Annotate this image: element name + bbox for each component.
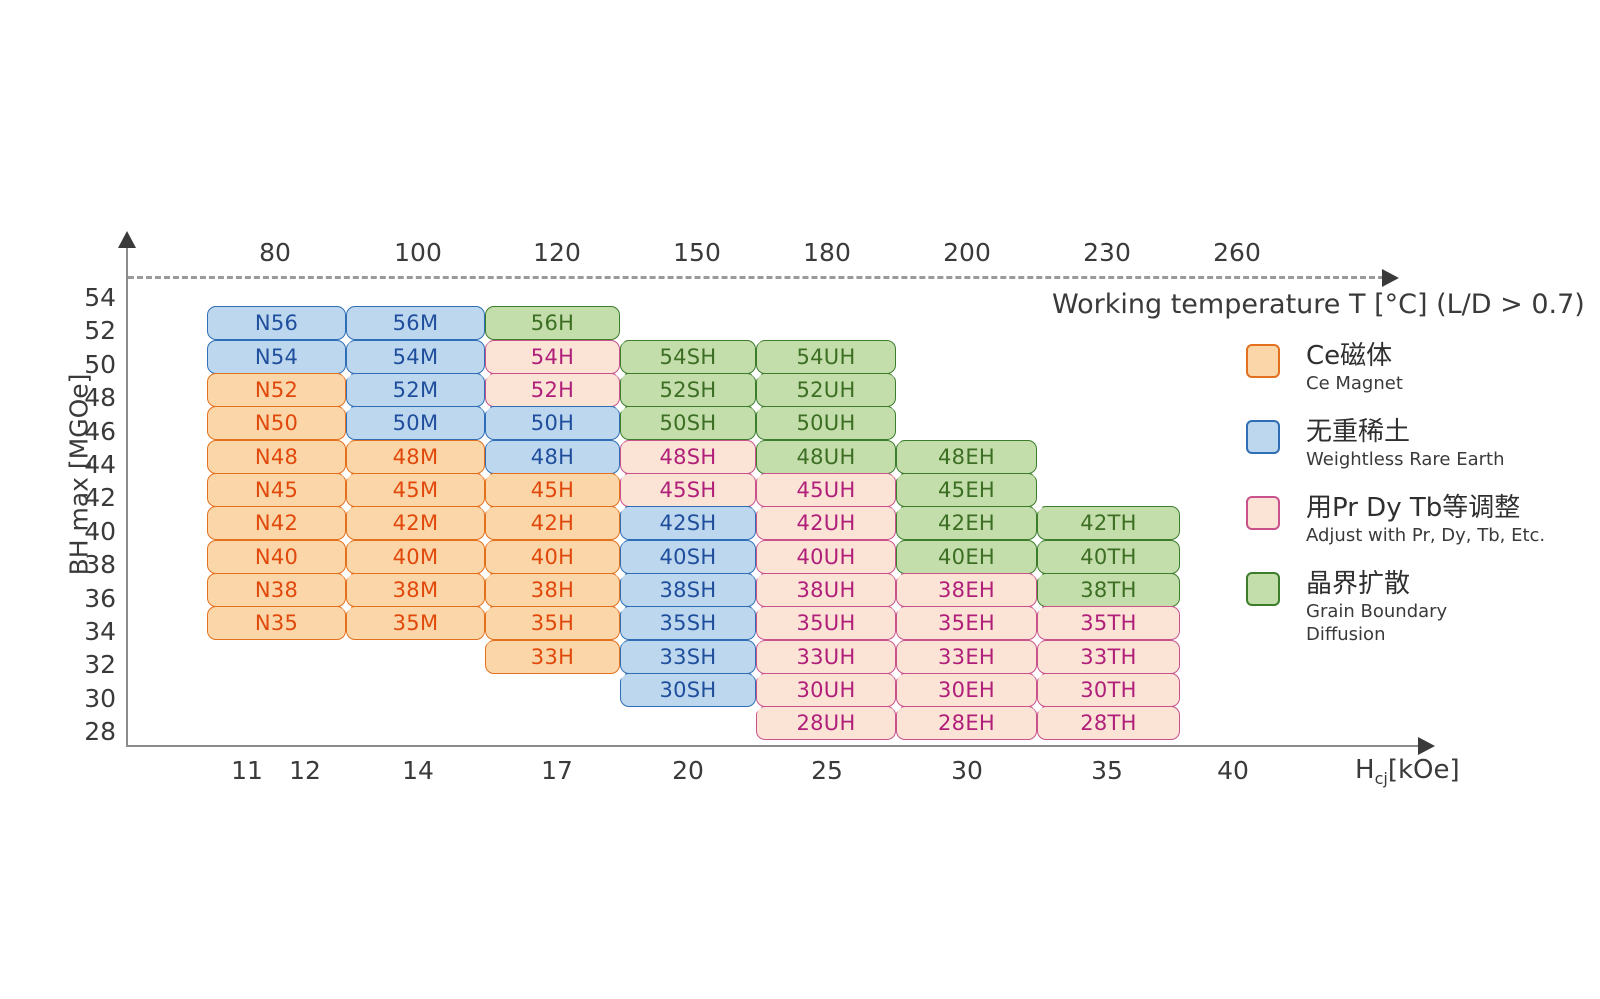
legend-swatch-pink bbox=[1246, 496, 1280, 530]
grade-cell[interactable]: 42SH bbox=[620, 506, 756, 540]
top-axis-arrow-icon bbox=[1382, 269, 1399, 287]
grade-cell[interactable]: 45UH bbox=[756, 473, 896, 507]
grade-cell[interactable]: 54UH bbox=[756, 340, 896, 374]
grade-cell[interactable]: 30TH bbox=[1037, 673, 1180, 707]
y-tick-label: 32 bbox=[56, 650, 116, 679]
y-tick-label: 48 bbox=[56, 383, 116, 412]
grade-cell[interactable]: 50M bbox=[346, 406, 485, 440]
grade-cell[interactable]: 30SH bbox=[620, 673, 756, 707]
grade-cell[interactable]: N56 bbox=[207, 306, 346, 340]
legend: Ce磁体Ce Magnet无重稀土Weightless Rare Earth用P… bbox=[1246, 340, 1586, 652]
y-tick-label: 38 bbox=[56, 550, 116, 579]
grade-cell[interactable]: 40M bbox=[346, 540, 485, 574]
grade-cell[interactable]: 38H bbox=[485, 573, 620, 607]
legend-label-cn: 用Pr Dy Tb等调整 bbox=[1306, 492, 1586, 524]
grade-cell[interactable]: 45M bbox=[346, 473, 485, 507]
grade-cell[interactable]: 40EH bbox=[896, 540, 1037, 574]
grade-cell[interactable]: 56M bbox=[346, 306, 485, 340]
grade-cell[interactable]: N54 bbox=[207, 340, 346, 374]
grade-cell[interactable]: 54M bbox=[346, 340, 485, 374]
grade-cell[interactable]: 35TH bbox=[1037, 606, 1180, 640]
grade-cell[interactable]: 45H bbox=[485, 473, 620, 507]
grade-cell[interactable]: 40TH bbox=[1037, 540, 1180, 574]
grade-cell[interactable]: 30UH bbox=[756, 673, 896, 707]
y-tick-label: 28 bbox=[56, 717, 116, 746]
chart-canvas: BH max [MGOe] Working temperature T [°C]… bbox=[0, 0, 1600, 999]
grade-cell[interactable]: 56H bbox=[485, 306, 620, 340]
legend-swatch-blue bbox=[1246, 420, 1280, 454]
x-tick-label: 35 bbox=[1062, 756, 1152, 785]
grade-cell[interactable]: 33UH bbox=[756, 640, 896, 674]
grade-cell[interactable]: N35 bbox=[207, 606, 346, 640]
grade-cell[interactable]: 28UH bbox=[756, 706, 896, 740]
grade-cell[interactable]: 45EH bbox=[896, 473, 1037, 507]
y-tick-label: 42 bbox=[56, 483, 116, 512]
grade-cell[interactable]: 28EH bbox=[896, 706, 1037, 740]
grade-cell[interactable]: 33EH bbox=[896, 640, 1037, 674]
top-tick-label: 80 bbox=[230, 238, 320, 267]
grade-cell[interactable]: 42UH bbox=[756, 506, 896, 540]
grade-cell[interactable]: 52SH bbox=[620, 373, 756, 407]
top-tick-label: 180 bbox=[782, 238, 872, 267]
grade-cell[interactable]: 50SH bbox=[620, 406, 756, 440]
y-axis-line bbox=[126, 246, 128, 746]
grade-cell[interactable]: N45 bbox=[207, 473, 346, 507]
grade-cell[interactable]: 42H bbox=[485, 506, 620, 540]
grade-cell[interactable]: 33H bbox=[485, 640, 620, 674]
y-tick-label: 52 bbox=[56, 316, 116, 345]
grade-cell[interactable]: N38 bbox=[207, 573, 346, 607]
legend-label-en: Diffusion bbox=[1306, 623, 1586, 646]
grade-cell[interactable]: 28TH bbox=[1037, 706, 1180, 740]
grade-cell[interactable]: 35UH bbox=[756, 606, 896, 640]
legend-item-blue[interactable]: 无重稀土Weightless Rare Earth bbox=[1246, 416, 1586, 488]
y-tick-label: 30 bbox=[56, 684, 116, 713]
y-axis-arrow-icon bbox=[118, 231, 136, 248]
grade-cell[interactable]: N42 bbox=[207, 506, 346, 540]
grade-cell[interactable]: 42TH bbox=[1037, 506, 1180, 540]
legend-item-pink[interactable]: 用Pr Dy Tb等调整Adjust with Pr, Dy, Tb, Etc. bbox=[1246, 492, 1586, 564]
top-axis-title: Working temperature T [°C] (L/D > 0.7) bbox=[1052, 289, 1585, 320]
grade-cell[interactable]: 38UH bbox=[756, 573, 896, 607]
grade-cell[interactable]: 38TH bbox=[1037, 573, 1180, 607]
grade-cell[interactable]: 35H bbox=[485, 606, 620, 640]
legend-item-orange[interactable]: Ce磁体Ce Magnet bbox=[1246, 340, 1586, 412]
grade-cell[interactable]: 33SH bbox=[620, 640, 756, 674]
top-tick-label: 150 bbox=[652, 238, 742, 267]
x-axis-title: Hcj[kOe] bbox=[1355, 755, 1460, 788]
grade-cell[interactable]: 40SH bbox=[620, 540, 756, 574]
x-tick-label: 20 bbox=[643, 756, 733, 785]
grade-cell[interactable]: 35SH bbox=[620, 606, 756, 640]
grade-cell[interactable]: 52M bbox=[346, 373, 485, 407]
legend-label-en: Adjust with Pr, Dy, Tb, Etc. bbox=[1306, 524, 1586, 547]
grade-cell[interactable]: 30EH bbox=[896, 673, 1037, 707]
y-tick-label: 36 bbox=[56, 584, 116, 613]
grade-cell[interactable]: 42EH bbox=[896, 506, 1037, 540]
x-axis-title-subscript: cj bbox=[1375, 769, 1388, 788]
grade-cell[interactable]: 40UH bbox=[756, 540, 896, 574]
legend-item-green[interactable]: 晶界扩散Grain BoundaryDiffusion bbox=[1246, 568, 1586, 648]
grade-cell[interactable]: 54SH bbox=[620, 340, 756, 374]
grade-cell[interactable]: 42M bbox=[346, 506, 485, 540]
grade-cell[interactable]: N40 bbox=[207, 540, 346, 574]
grade-cell[interactable]: 35M bbox=[346, 606, 485, 640]
x-tick-label: 14 bbox=[373, 756, 463, 785]
x-tick-label: 17 bbox=[512, 756, 602, 785]
grade-cell[interactable]: 33TH bbox=[1037, 640, 1180, 674]
grade-cell[interactable]: 38M bbox=[346, 573, 485, 607]
y-tick-label: 44 bbox=[56, 450, 116, 479]
top-tick-label: 120 bbox=[512, 238, 602, 267]
top-tick-label: 260 bbox=[1192, 238, 1282, 267]
grade-cell[interactable]: 50UH bbox=[756, 406, 896, 440]
legend-swatch-green bbox=[1246, 572, 1280, 606]
grade-cell[interactable]: 48SH bbox=[620, 440, 756, 474]
y-tick-label: 50 bbox=[56, 350, 116, 379]
grade-cell[interactable]: 48EH bbox=[896, 440, 1037, 474]
x-tick-label: 40 bbox=[1188, 756, 1278, 785]
top-tick-label: 100 bbox=[373, 238, 463, 267]
grade-cell[interactable]: 48H bbox=[485, 440, 620, 474]
legend-label-en: Weightless Rare Earth bbox=[1306, 448, 1586, 471]
top-tick-label: 230 bbox=[1062, 238, 1152, 267]
grade-cell[interactable]: 38SH bbox=[620, 573, 756, 607]
grade-cell[interactable]: 48UH bbox=[756, 440, 896, 474]
y-tick-label: 34 bbox=[56, 617, 116, 646]
grade-cell[interactable]: N50 bbox=[207, 406, 346, 440]
grade-cell[interactable]: 50H bbox=[485, 406, 620, 440]
grade-cell[interactable]: N48 bbox=[207, 440, 346, 474]
y-tick-label: 40 bbox=[56, 517, 116, 546]
x-tick-label: 30 bbox=[922, 756, 1012, 785]
grade-cell[interactable]: 48M bbox=[346, 440, 485, 474]
x-tick-label: 25 bbox=[782, 756, 872, 785]
y-tick-label: 46 bbox=[56, 417, 116, 446]
grade-cell[interactable]: 52UH bbox=[756, 373, 896, 407]
grade-cell[interactable]: 38EH bbox=[896, 573, 1037, 607]
y-tick-label: 54 bbox=[56, 283, 116, 312]
x-tick-label: 12 bbox=[260, 756, 350, 785]
x-axis-arrow-icon bbox=[1418, 737, 1435, 755]
legend-label-cn: Ce磁体 bbox=[1306, 340, 1586, 372]
legend-label-en: Grain Boundary bbox=[1306, 600, 1586, 623]
top-tick-label: 200 bbox=[922, 238, 1012, 267]
legend-swatch-orange bbox=[1246, 344, 1280, 378]
legend-label-cn: 晶界扩散 bbox=[1306, 568, 1586, 600]
top-axis-dashed-line bbox=[128, 276, 1384, 279]
grade-cell[interactable]: 54H bbox=[485, 340, 620, 374]
grade-cell[interactable]: 52H bbox=[485, 373, 620, 407]
grade-cell[interactable]: 45SH bbox=[620, 473, 756, 507]
grade-cell[interactable]: 40H bbox=[485, 540, 620, 574]
legend-label-cn: 无重稀土 bbox=[1306, 416, 1586, 448]
x-axis-line bbox=[126, 745, 1420, 747]
legend-label-en: Ce Magnet bbox=[1306, 372, 1586, 395]
grade-cell[interactable]: N52 bbox=[207, 373, 346, 407]
grade-cell[interactable]: 35EH bbox=[896, 606, 1037, 640]
